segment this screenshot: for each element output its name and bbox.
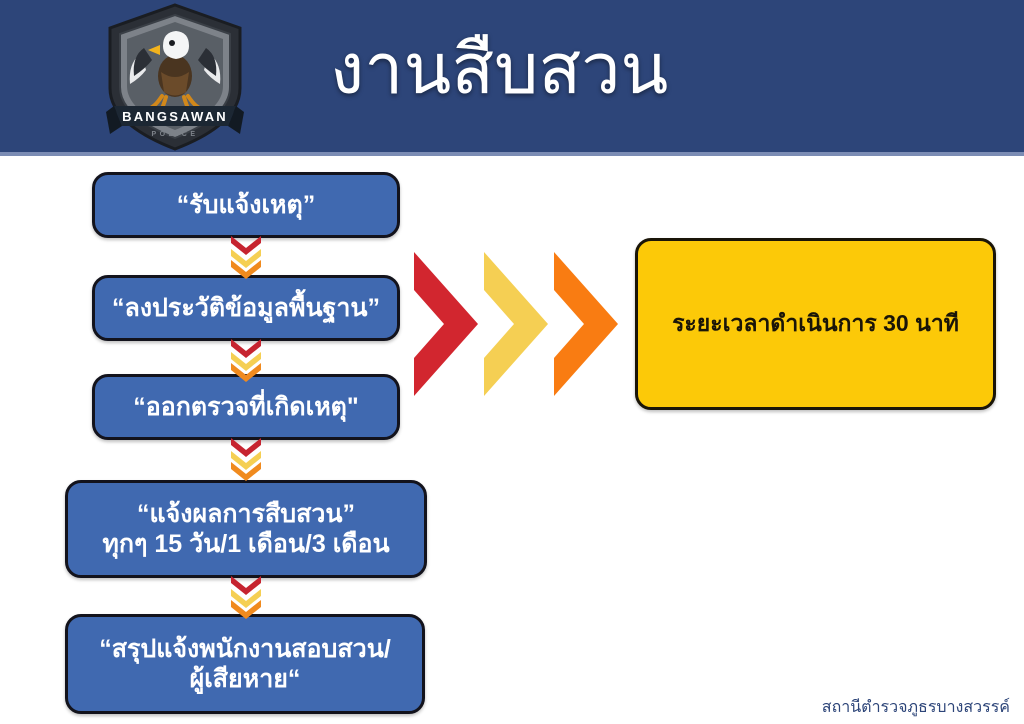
flow-node-report-investigation-result[interactable]: “แจ้งผลการสืบสวน” ทุกๆ 15 วัน/1 เดือน/3 … <box>65 480 427 578</box>
header-underline-divider <box>0 152 1024 156</box>
police-eagle-crest-logo: BANGSAWAN POLICE <box>100 2 250 152</box>
triple-chevron-down-icon <box>224 574 268 620</box>
footer-credit: สถานีตำรวจภูธรบางสวรรค์ <box>822 695 1010 720</box>
result-duration-box[interactable]: ระยะเวลาดำเนินการ 30 นาที <box>635 238 996 410</box>
flow-node-label: “รับแจ้งเหตุ” <box>105 190 387 221</box>
flow-node-receive-report[interactable]: “รับแจ้งเหตุ” <box>92 172 400 238</box>
flow-node-inspect-scene[interactable]: “ออกตรวจที่เกิดเหตุ" <box>92 374 400 440</box>
triple-chevron-down-icon <box>224 234 268 280</box>
crest-sub-banner-text: POLICE <box>151 131 198 138</box>
flow-node-label: “สรุปแจ้งพนักงานสอบสวน/ ผู้เสียหาย“ <box>78 634 412 695</box>
flow-node-label: “ลงประวัติข้อมูลพื้นฐาน” <box>105 293 387 324</box>
result-duration-label: ระยะเวลาดำเนินการ 30 นาที <box>672 306 959 342</box>
triple-chevron-right-icon <box>412 248 626 400</box>
flow-node-summary-to-inquiry-officer[interactable]: “สรุปแจ้งพนักงานสอบสวน/ ผู้เสียหาย“ <box>65 614 425 714</box>
page-title: งานสืบสวน <box>330 14 930 124</box>
flow-node-label: “ออกตรวจที่เกิดเหตุ" <box>105 392 387 423</box>
triple-chevron-down-icon <box>224 337 268 383</box>
flow-node-record-basic-data[interactable]: “ลงประวัติข้อมูลพื้นฐาน” <box>92 275 400 341</box>
triple-chevron-down-icon <box>224 436 268 482</box>
crest-banner-text: BANGSAWAN <box>122 109 228 124</box>
flow-node-label: “แจ้งผลการสืบสวน” ทุกๆ 15 วัน/1 เดือน/3 … <box>78 499 414 560</box>
